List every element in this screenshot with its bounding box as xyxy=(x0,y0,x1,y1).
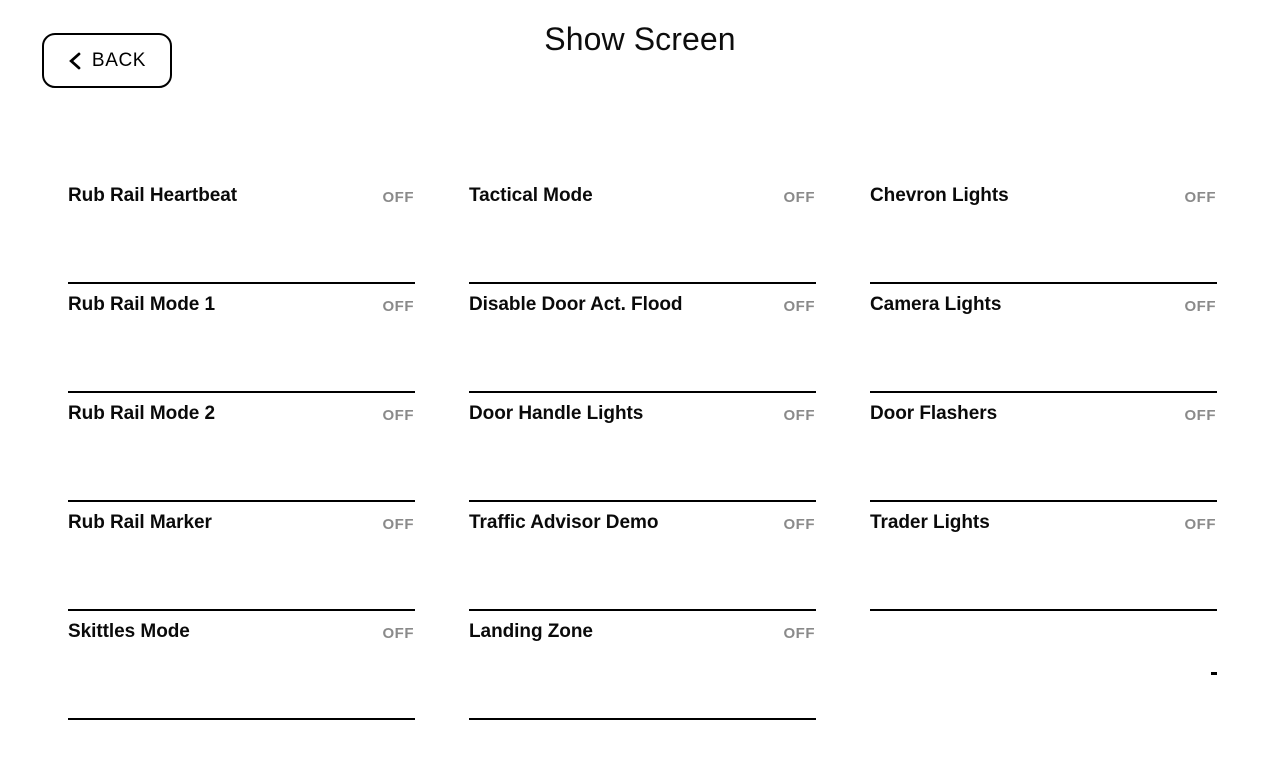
toggle-grid: Rub Rail HeartbeatOFFRub Rail Mode 1OFFR… xyxy=(68,175,1217,720)
header-bar: BACK Show Screen xyxy=(0,0,1280,110)
toggle-state-value[interactable]: OFF xyxy=(784,293,817,319)
toggle-state-value[interactable]: OFF xyxy=(383,402,416,428)
toggle-row[interactable]: Disable Door Act. FloodOFF xyxy=(469,284,816,393)
toggle-row[interactable]: Trader LightsOFF xyxy=(870,502,1217,611)
stray-mark xyxy=(1211,672,1217,675)
toggle-column-2: Tactical ModeOFFDisable Door Act. FloodO… xyxy=(469,175,816,720)
toggle-row[interactable]: Rub Rail Mode 2OFF xyxy=(68,393,415,502)
toggle-state-value[interactable]: OFF xyxy=(784,511,817,537)
toggle-label: Landing Zone xyxy=(469,620,593,644)
toggle-state-value[interactable]: OFF xyxy=(1185,511,1218,537)
toggle-row[interactable]: Rub Rail Mode 1OFF xyxy=(68,284,415,393)
toggle-row[interactable]: Rub Rail MarkerOFF xyxy=(68,502,415,611)
toggle-column-1: Rub Rail HeartbeatOFFRub Rail Mode 1OFFR… xyxy=(68,175,415,720)
toggle-label: Rub Rail Mode 2 xyxy=(68,402,215,426)
toggle-row[interactable]: Tactical ModeOFF xyxy=(469,175,816,284)
toggle-state-value[interactable]: OFF xyxy=(383,184,416,210)
toggle-label: Chevron Lights xyxy=(870,184,1009,208)
toggle-state-value[interactable]: OFF xyxy=(383,293,416,319)
toggle-label: Door Handle Lights xyxy=(469,402,643,426)
toggle-state-value[interactable]: OFF xyxy=(784,184,817,210)
toggle-row[interactable]: Chevron LightsOFF xyxy=(870,175,1217,284)
toggle-label: Trader Lights xyxy=(870,511,990,535)
toggle-label: Camera Lights xyxy=(870,293,1001,317)
toggle-label: Rub Rail Heartbeat xyxy=(68,184,237,208)
toggle-label: Disable Door Act. Flood xyxy=(469,293,683,317)
toggle-row[interactable]: Skittles ModeOFF xyxy=(68,611,415,720)
toggle-row[interactable]: Traffic Advisor DemoOFF xyxy=(469,502,816,611)
toggle-state-value[interactable]: OFF xyxy=(383,511,416,537)
toggle-row[interactable]: Door FlashersOFF xyxy=(870,393,1217,502)
toggle-row[interactable]: Camera LightsOFF xyxy=(870,284,1217,393)
toggle-state-value[interactable]: OFF xyxy=(383,620,416,646)
toggle-label: Rub Rail Marker xyxy=(68,511,212,535)
toggle-state-value[interactable]: OFF xyxy=(1185,293,1218,319)
toggle-label: Skittles Mode xyxy=(68,620,190,644)
toggle-label: Door Flashers xyxy=(870,402,997,426)
toggle-row[interactable]: Door Handle LightsOFF xyxy=(469,393,816,502)
toggle-state-value[interactable]: OFF xyxy=(784,402,817,428)
toggle-row[interactable]: Rub Rail HeartbeatOFF xyxy=(68,175,415,284)
toggle-state-value[interactable]: OFF xyxy=(784,620,817,646)
toggle-state-value[interactable]: OFF xyxy=(1185,184,1218,210)
toggle-label: Tactical Mode xyxy=(469,184,593,208)
toggle-label: Rub Rail Mode 1 xyxy=(68,293,215,317)
toggle-label: Traffic Advisor Demo xyxy=(469,511,658,535)
page-title: Show Screen xyxy=(0,19,1280,59)
toggle-state-value[interactable]: OFF xyxy=(1185,402,1218,428)
toggle-row[interactable]: Landing ZoneOFF xyxy=(469,611,816,720)
toggle-column-3: Chevron LightsOFFCamera LightsOFFDoor Fl… xyxy=(870,175,1217,720)
